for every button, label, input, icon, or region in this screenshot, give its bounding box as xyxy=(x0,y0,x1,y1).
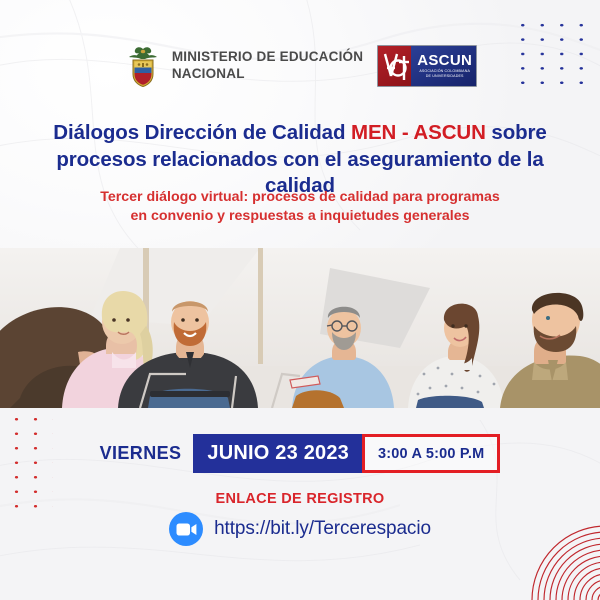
event-weekday: VIERNES xyxy=(100,434,194,473)
registration-link-row[interactable]: https://bit.ly/Tercerespacio xyxy=(0,512,600,546)
colombia-coat-of-arms-icon xyxy=(123,44,163,88)
ascun-logo: ASCUN ASOCIACIÓN COLOMBIANA DE UNIVERSID… xyxy=(377,45,477,87)
poster-canvas: MINISTERIO DE EDUCACIÓN NACIONAL ASCUN xyxy=(0,0,600,600)
photo-illustration xyxy=(0,248,600,408)
subtitle-line1: Tercer diálogo virtual: procesos de cali… xyxy=(100,189,499,205)
ascun-subtitle: ASOCIACIÓN COLOMBIANA DE UNIVERSIDADES xyxy=(419,69,470,79)
title-line1-part2: sobre xyxy=(486,121,547,144)
event-datetime-bar: VIERNES JUNIO 23 2023 3:00 A 5:00 P.M xyxy=(0,434,600,473)
ascun-wordmark: ASCUN xyxy=(417,53,472,68)
title-accent-men-ascun: MEN - ASCUN xyxy=(351,121,486,144)
event-date-badge: JUNIO 23 2023 xyxy=(193,434,363,473)
event-photo xyxy=(0,248,600,408)
registration-url[interactable]: https://bit.ly/Tercerespacio xyxy=(214,518,431,540)
poster-subtitle: Tercer diálogo virtual: procesos de cali… xyxy=(50,188,550,226)
zoom-video-icon xyxy=(169,512,203,546)
title-line1-part1: Diálogos Dirección de Calidad xyxy=(53,121,351,144)
ministry-logo: MINISTERIO DE EDUCACIÓN NACIONAL xyxy=(123,44,363,88)
ascun-monogram-icon xyxy=(378,46,411,86)
ministry-name-label: MINISTERIO DE EDUCACIÓN NACIONAL xyxy=(172,49,363,83)
header-logos: MINISTERIO DE EDUCACIÓN NACIONAL ASCUN xyxy=(0,44,600,88)
registration-label: ENLACE DE REGISTRO xyxy=(0,491,600,507)
ascun-text-block: ASCUN ASOCIACIÓN COLOMBIANA DE UNIVERSID… xyxy=(411,46,476,86)
event-time-badge: 3:00 A 5:00 P.M xyxy=(362,434,500,473)
subtitle-line2: en convenio y respuestas a inquietudes g… xyxy=(130,208,469,224)
